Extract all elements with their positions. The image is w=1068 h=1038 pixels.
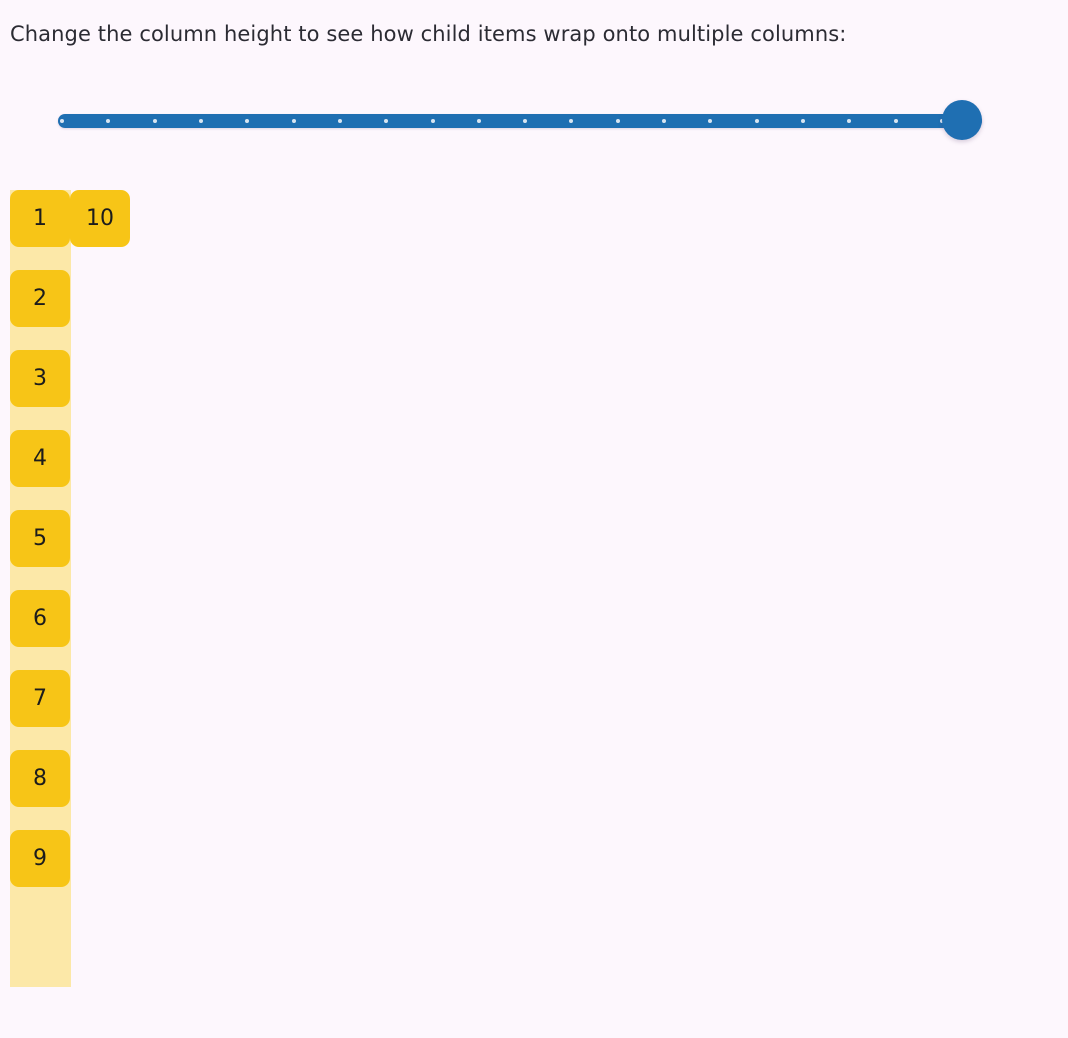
slider-tick [523,119,527,123]
slider-tick [894,119,898,123]
flex-item-label: 5 [33,528,47,550]
slider-tick [847,119,851,123]
flex-item: 3 [10,350,70,407]
wrapping-flex-column: 12345678910 [10,190,71,987]
flex-item: 7 [10,670,70,727]
flex-item: 6 [10,590,70,647]
flex-item: 10 [70,190,130,247]
flex-item: 9 [10,830,70,887]
flex-item-label: 1 [33,208,47,230]
slider-tick [384,119,388,123]
flex-item: 5 [10,510,70,567]
flex-item: 1 [10,190,70,247]
flex-item-label: 3 [33,368,47,390]
slider-tick [569,119,573,123]
page-title: Change the column height to see how chil… [10,20,846,48]
slider-tick [755,119,759,123]
flex-item-label: 6 [33,608,47,630]
column-height-slider[interactable] [58,100,982,142]
flex-item-label: 7 [33,688,47,710]
flex-item-label: 8 [33,768,47,790]
slider-tick [199,119,203,123]
slider-tick [662,119,666,123]
slider-thumb[interactable] [942,100,982,140]
flex-item-label: 2 [33,288,47,310]
slider-tick [245,119,249,123]
flex-item: 4 [10,430,70,487]
slider-tick [338,119,342,123]
slider-tick [292,119,296,123]
flex-item: 8 [10,750,70,807]
flex-item-label: 4 [33,448,47,470]
slider-tick [106,119,110,123]
flex-item-label: 10 [86,208,114,230]
flex-item: 2 [10,270,70,327]
slider-tick [153,119,157,123]
slider-tick [708,119,712,123]
slider-tick [477,119,481,123]
slider-tick [616,119,620,123]
flex-item-label: 9 [33,848,47,870]
slider-tick-marks [58,114,982,128]
slider-tick [801,119,805,123]
slider-tick [60,119,64,123]
slider-tick [431,119,435,123]
